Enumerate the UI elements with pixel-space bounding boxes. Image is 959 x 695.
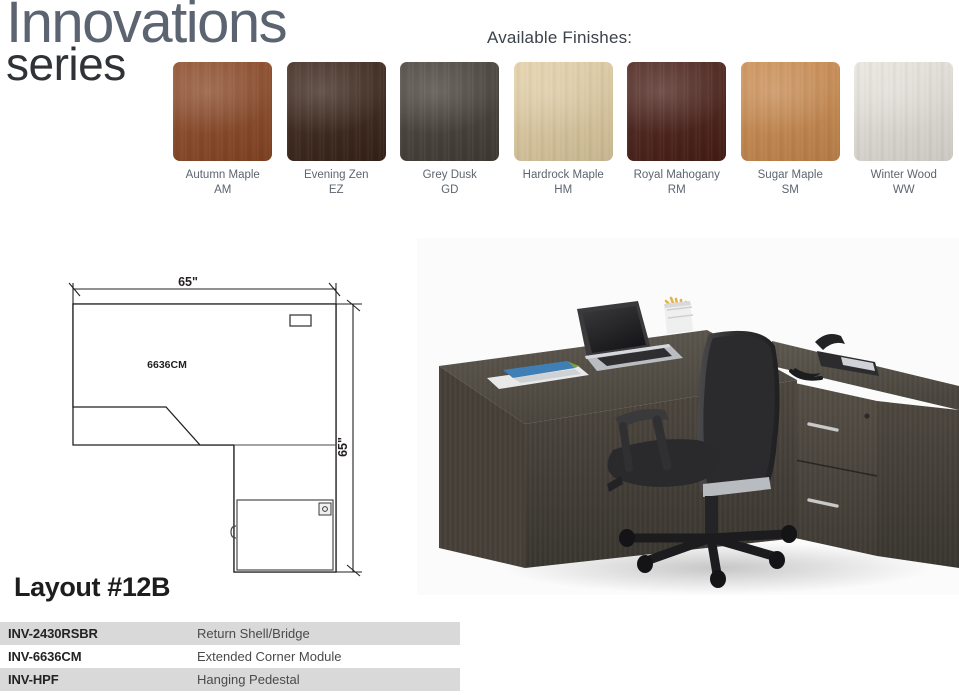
finish-code: WW xyxy=(893,183,915,198)
finish-chip-gd xyxy=(400,62,499,161)
product-photo-svg xyxy=(417,238,959,595)
finish-code: SM xyxy=(782,183,799,198)
finish-swatch-hm[interactable]: Hardrock MapleHM xyxy=(507,62,621,198)
finish-swatch-strip: Autumn MapleAMEvening ZenEZGrey DuskGDHa… xyxy=(166,62,959,198)
finish-name: Autumn Maple xyxy=(186,168,260,183)
finish-chip-am xyxy=(173,62,272,161)
pedestal-lock xyxy=(864,413,869,418)
chip-sheen xyxy=(627,62,726,161)
finish-code: HM xyxy=(554,183,572,198)
hanging-pedestal xyxy=(795,383,877,556)
finish-swatch-am[interactable]: Autumn MapleAM xyxy=(166,62,280,198)
chip-sheen xyxy=(173,62,272,161)
finish-swatch-gd[interactable]: Grey DuskGD xyxy=(393,62,507,198)
finishes-heading: Available Finishes: xyxy=(487,28,632,48)
finish-swatch-rm[interactable]: Royal MahoganyRM xyxy=(620,62,734,198)
finish-name: Sugar Maple xyxy=(758,168,823,183)
table-row: INV-2430RSBRReturn Shell/Bridge xyxy=(0,622,460,645)
part-sku: INV-HPF xyxy=(0,672,197,687)
chip-sheen xyxy=(854,62,953,161)
finish-name: Hardrock Maple xyxy=(523,168,604,183)
finish-chip-hm xyxy=(514,62,613,161)
finish-code: GD xyxy=(441,183,458,198)
grommet-rectangle xyxy=(290,315,311,326)
product-photo xyxy=(417,238,959,595)
finish-chip-sm xyxy=(741,62,840,161)
chip-sheen xyxy=(514,62,613,161)
parts-table: INV-2430RSBRReturn Shell/BridgeINV-6636C… xyxy=(0,622,460,691)
layout-drawing-svg: 65" 65" 6636CM xyxy=(40,262,400,582)
part-description: Extended Corner Module xyxy=(197,649,342,664)
part-description: Hanging Pedestal xyxy=(197,672,300,687)
finish-name: Winter Wood xyxy=(871,168,937,183)
finish-chip-ez xyxy=(287,62,386,161)
part-sku: INV-2430RSBR xyxy=(0,626,197,641)
finish-name: Royal Mahogany xyxy=(634,168,720,183)
finish-name: Evening Zen xyxy=(304,168,369,183)
finish-chip-rm xyxy=(627,62,726,161)
finish-code: EZ xyxy=(329,183,344,198)
finish-code: AM xyxy=(214,183,231,198)
layout-title: Layout #12B xyxy=(14,572,170,603)
width-dimension-label: 65" xyxy=(178,275,198,289)
part-sku: INV-6636CM xyxy=(0,649,197,664)
table-row: INV-6636CMExtended Corner Module xyxy=(0,645,460,668)
finish-chip-ww xyxy=(854,62,953,161)
chip-sheen xyxy=(400,62,499,161)
finish-swatch-sm[interactable]: Sugar MapleSM xyxy=(734,62,848,198)
finish-swatch-ww[interactable]: Winter WoodWW xyxy=(847,62,959,198)
finish-swatch-ez[interactable]: Evening ZenEZ xyxy=(280,62,394,198)
module-label: 6636CM xyxy=(147,359,187,371)
chip-sheen xyxy=(741,62,840,161)
layout-drawing: 65" 65" 6636CM xyxy=(40,262,400,587)
pedestal-lock-plate xyxy=(319,503,331,515)
finish-code: RM xyxy=(668,183,686,198)
table-row: INV-HPFHanging Pedestal xyxy=(0,668,460,691)
part-description: Return Shell/Bridge xyxy=(197,626,310,641)
finish-name: Grey Dusk xyxy=(423,168,477,183)
depth-dimension-label: 65" xyxy=(336,437,350,457)
pencil-cup xyxy=(664,298,693,334)
chip-sheen xyxy=(287,62,386,161)
